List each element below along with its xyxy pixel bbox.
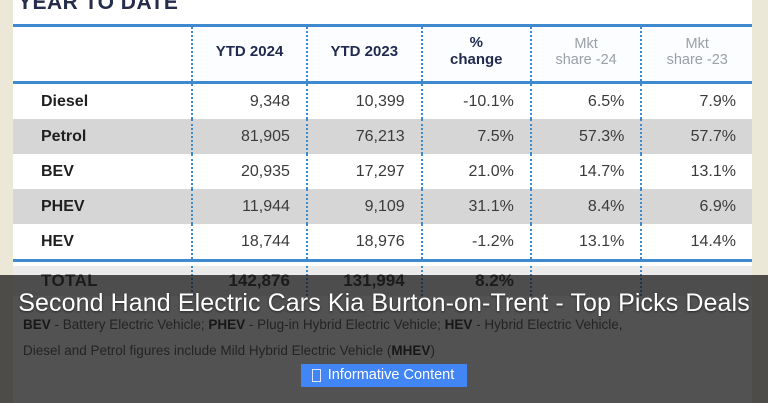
table-row: BEV 20,935 17,297 21.0% 14.7% 13.1%	[13, 154, 752, 189]
cell-label: HEV	[13, 224, 192, 259]
header-cell-ytd2023: YTD 2023	[307, 27, 422, 81]
section-title: YEAR TO DATE	[18, 0, 178, 15]
cell-label: BEV	[13, 154, 192, 189]
cell-mkt24: 13.1%	[531, 224, 642, 259]
cell-mkt23: 6.9%	[641, 189, 752, 224]
table-row: PHEV 11,944 9,109 31.1% 8.4% 6.9%	[13, 189, 752, 224]
cell-mkt24: 8.4%	[531, 189, 642, 224]
cell-pctchange: -1.2%	[422, 224, 531, 259]
cell-mkt23: 14.4%	[641, 224, 752, 259]
cell-mkt24: 57.3%	[531, 119, 642, 154]
header-cell-mkt24: Mkt share -24	[531, 27, 642, 81]
cell-ytd2023: 76,213	[307, 119, 422, 154]
table-body: Diesel 9,348 10,399 -10.1% 6.5% 7.9% Pet…	[13, 84, 752, 259]
cell-ytd2023: 10,399	[307, 84, 422, 119]
cell-pctchange: -10.1%	[422, 84, 531, 119]
table-row: Diesel 9,348 10,399 -10.1% 6.5% 7.9%	[13, 84, 752, 119]
cell-ytd2024: 18,744	[192, 224, 307, 259]
header-cell-pctchange: % change	[422, 27, 531, 81]
header-pct-line1: %	[470, 34, 483, 51]
cell-mkt23: 57.7%	[641, 119, 752, 154]
informative-content-badge[interactable]: Informative Content	[301, 364, 468, 387]
cell-pctchange: 21.0%	[422, 154, 531, 189]
header-pct-line2: change	[450, 51, 503, 68]
cell-ytd2024: 20,935	[192, 154, 307, 189]
cell-mkt23: 7.9%	[641, 84, 752, 119]
ytd-table-container: YTD 2024 YTD 2023 % change Mkt share -24…	[13, 24, 752, 296]
cell-mkt24: 6.5%	[531, 84, 642, 119]
table-row: Petrol 81,905 76,213 7.5% 57.3% 57.7%	[13, 119, 752, 154]
header-mkt24-line2: share -24	[555, 52, 616, 68]
cell-ytd2023: 18,976	[307, 224, 422, 259]
table-head: YTD 2024 YTD 2023 % change Mkt share -24…	[13, 27, 752, 84]
cell-label: Petrol	[13, 119, 192, 154]
cell-mkt24: 14.7%	[531, 154, 642, 189]
badge-row: Informative Content	[0, 364, 768, 387]
header-cell-mkt23: Mkt share -23	[641, 27, 752, 81]
overlay-title: Second Hand Electric Cars Kia Burton-on-…	[0, 287, 768, 319]
cell-ytd2023: 9,109	[307, 189, 422, 224]
cell-pctchange: 31.1%	[422, 189, 531, 224]
ytd-table: YTD 2024 YTD 2023 % change Mkt share -24…	[13, 27, 752, 296]
table-row: HEV 18,744 18,976 -1.2% 13.1% 14.4%	[13, 224, 752, 259]
cell-label: PHEV	[13, 189, 192, 224]
cell-mkt23: 13.1%	[641, 154, 752, 189]
header-cell-label	[13, 27, 192, 81]
header-mkt23-line1: Mkt	[686, 36, 709, 52]
cell-pctchange: 7.5%	[422, 119, 531, 154]
header-row: YTD 2024 YTD 2023 % change Mkt share -24…	[13, 27, 752, 81]
cell-label: Diesel	[13, 84, 192, 119]
badge-label: Informative Content	[328, 367, 455, 383]
cell-ytd2023: 17,297	[307, 154, 422, 189]
cell-ytd2024: 9,348	[192, 84, 307, 119]
header-cell-ytd2024: YTD 2024	[192, 27, 307, 81]
header-mkt23-line2: share -23	[667, 52, 728, 68]
cell-ytd2024: 11,944	[192, 189, 307, 224]
cell-ytd2024: 81,905	[192, 119, 307, 154]
square-glyph-icon	[312, 369, 321, 382]
screenshot-root: YEAR TO DATE YTD 2024 YTD 2023 % change	[0, 0, 768, 403]
header-mkt24-line1: Mkt	[574, 36, 597, 52]
